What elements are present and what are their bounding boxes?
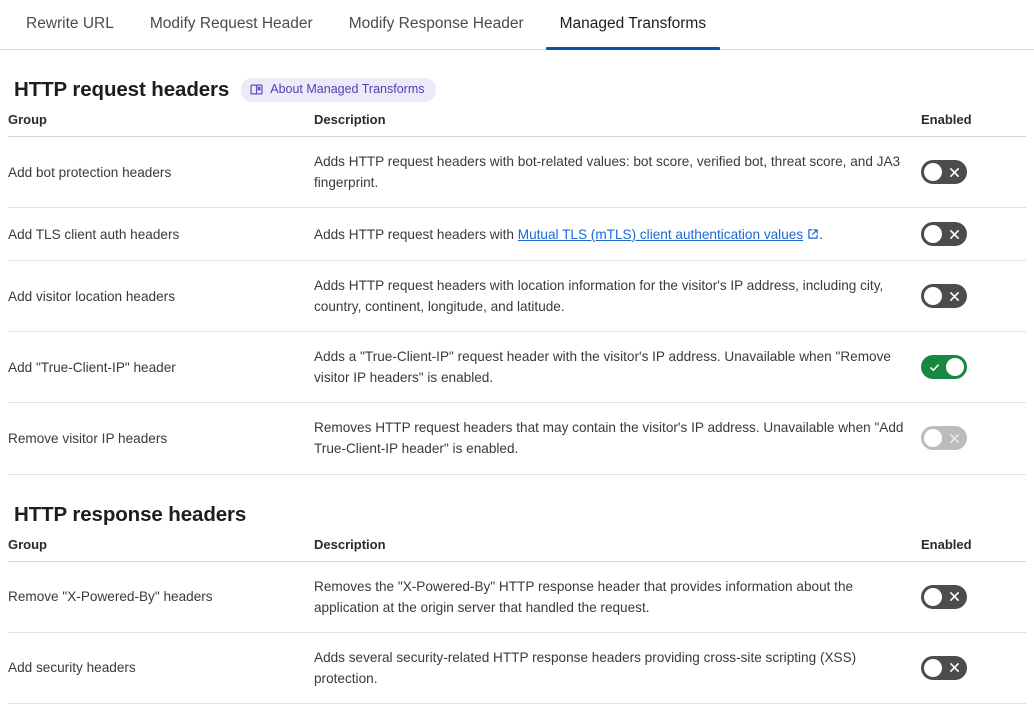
tab-rewrite-url[interactable]: Rewrite URL bbox=[12, 0, 128, 49]
toggle-knob bbox=[924, 659, 942, 677]
row-group-label: Add security headers bbox=[8, 632, 314, 703]
row-group-label: Remove "X-Powered-By" headers bbox=[8, 561, 314, 632]
row-description: Adds several security-related HTTP respo… bbox=[314, 632, 921, 703]
row-description: Removes the "X-Powered-By" HTTP response… bbox=[314, 561, 921, 632]
toggle-add-visitor-location-headers[interactable] bbox=[921, 284, 967, 308]
toggle-remove-visitor-ip-headers bbox=[921, 426, 967, 450]
row-description: Adds a "True-Client-IP" request header w… bbox=[314, 332, 921, 403]
row-enabled-cell bbox=[921, 632, 1026, 703]
request-headers-table: Group Description Enabled Add bot protec… bbox=[8, 112, 1026, 475]
about-managed-transforms-label: About Managed Transforms bbox=[270, 81, 424, 97]
external-link-icon[interactable] bbox=[807, 225, 819, 237]
close-icon bbox=[948, 656, 960, 680]
toggle-add-security-headers[interactable] bbox=[921, 656, 967, 680]
row-description: Removes HTTP request headers that may co… bbox=[314, 403, 921, 474]
close-icon bbox=[948, 284, 960, 308]
toggle-knob bbox=[924, 225, 942, 243]
check-icon bbox=[928, 355, 940, 379]
toggle-add-bot-protection-headers[interactable] bbox=[921, 160, 967, 184]
table-row: Add security headers Adds several securi… bbox=[8, 632, 1026, 703]
request-headers-title: HTTP request headers bbox=[14, 78, 229, 102]
tab-managed-transforms[interactable]: Managed Transforms bbox=[546, 0, 720, 49]
table-header-row: Group Description Enabled bbox=[8, 537, 1026, 562]
table-row: Add TLS client auth headers Adds HTTP re… bbox=[8, 208, 1026, 261]
response-headers-title: HTTP response headers bbox=[14, 503, 246, 527]
row-group-label: Add visitor location headers bbox=[8, 261, 314, 332]
toggle-knob bbox=[924, 588, 942, 606]
toggle-add-tls-client-auth-headers[interactable] bbox=[921, 222, 967, 246]
toggle-knob bbox=[946, 358, 964, 376]
toggle-remove-x-powered-by-headers[interactable] bbox=[921, 585, 967, 609]
table-row: Remove "X-Powered-By" headers Removes th… bbox=[8, 561, 1026, 632]
about-managed-transforms-badge[interactable]: About Managed Transforms bbox=[241, 78, 436, 101]
table-row: Add bot protection headers Adds HTTP req… bbox=[8, 137, 1026, 208]
row-description-prefix: Adds HTTP request headers with bbox=[314, 227, 518, 242]
tab-modify-response-header[interactable]: Modify Response Header bbox=[335, 0, 538, 49]
toggle-add-true-client-ip-header[interactable] bbox=[921, 355, 967, 379]
close-icon bbox=[948, 585, 960, 609]
table-row: Add "True-Client-IP" header Adds a "True… bbox=[8, 332, 1026, 403]
row-enabled-cell bbox=[921, 208, 1026, 261]
column-header-description: Description bbox=[314, 112, 921, 137]
toggle-knob bbox=[924, 163, 942, 181]
row-description: Adds HTTP request headers with Mutual TL… bbox=[314, 208, 921, 261]
column-header-enabled: Enabled bbox=[921, 112, 1026, 137]
row-description: Adds HTTP request headers with bot-relat… bbox=[314, 137, 921, 208]
toggle-knob bbox=[924, 287, 942, 305]
transform-rules-tabbar: Rewrite URL Modify Request Header Modify… bbox=[0, 0, 1034, 50]
table-row: Add visitor location headers Adds HTTP r… bbox=[8, 261, 1026, 332]
row-group-label: Add TLS client auth headers bbox=[8, 208, 314, 261]
response-headers-table: Group Description Enabled Remove "X-Powe… bbox=[8, 537, 1026, 704]
column-header-group: Group bbox=[8, 112, 314, 137]
row-description-suffix: . bbox=[819, 227, 823, 242]
column-header-enabled: Enabled bbox=[921, 537, 1026, 562]
toggle-knob bbox=[924, 429, 942, 447]
response-headers-section-header: HTTP response headers bbox=[14, 503, 1026, 527]
row-enabled-cell bbox=[921, 403, 1026, 474]
row-description: Adds HTTP request headers with location … bbox=[314, 261, 921, 332]
column-header-description: Description bbox=[314, 537, 921, 562]
book-icon bbox=[250, 83, 263, 96]
mtls-client-auth-link[interactable]: Mutual TLS (mTLS) client authentication … bbox=[518, 227, 803, 242]
table-header-row: Group Description Enabled bbox=[8, 112, 1026, 137]
close-icon bbox=[948, 426, 960, 450]
row-enabled-cell bbox=[921, 561, 1026, 632]
bottom-spacer bbox=[8, 704, 1026, 720]
request-headers-section-header: HTTP request headers About Managed Trans… bbox=[14, 78, 1026, 102]
row-enabled-cell bbox=[921, 137, 1026, 208]
close-icon bbox=[948, 222, 960, 246]
row-group-label: Remove visitor IP headers bbox=[8, 403, 314, 474]
managed-transforms-content: HTTP request headers About Managed Trans… bbox=[0, 78, 1034, 720]
row-enabled-cell bbox=[921, 261, 1026, 332]
row-enabled-cell bbox=[921, 332, 1026, 403]
row-group-label: Add "True-Client-IP" header bbox=[8, 332, 314, 403]
row-group-label: Add bot protection headers bbox=[8, 137, 314, 208]
table-row: Remove visitor IP headers Removes HTTP r… bbox=[8, 403, 1026, 474]
tab-modify-request-header[interactable]: Modify Request Header bbox=[136, 0, 327, 49]
close-icon bbox=[948, 160, 960, 184]
column-header-group: Group bbox=[8, 537, 314, 562]
